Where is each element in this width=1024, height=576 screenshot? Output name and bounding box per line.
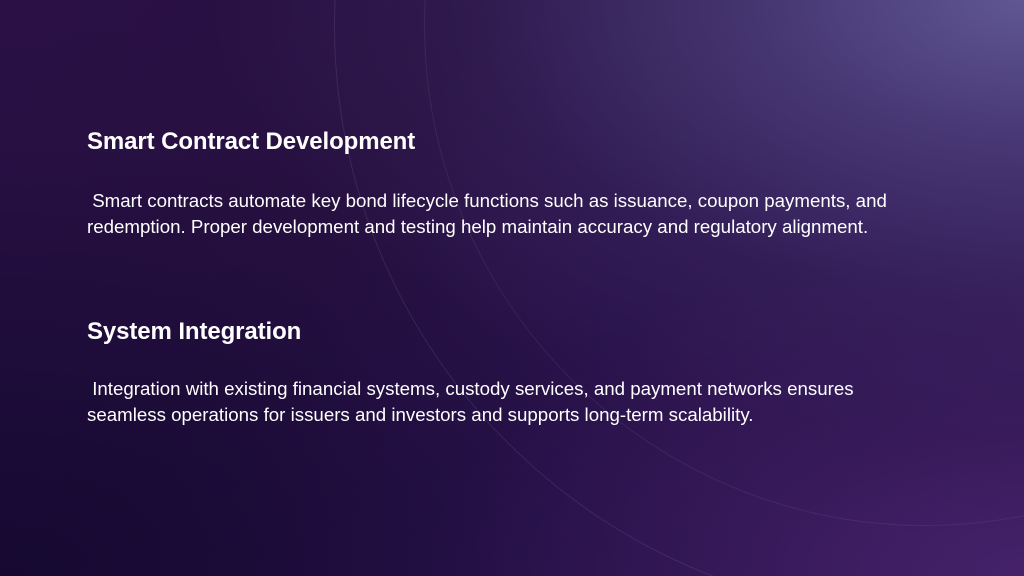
slide-content: Smart Contract Development Smart contrac… [87,0,947,576]
section-smart-contract-development: Smart Contract Development Smart contrac… [87,128,932,240]
section-heading-smart-contract-development: Smart Contract Development [87,128,932,157]
section-system-integration: System Integration Integration with exis… [87,318,932,428]
section-body-smart-contract-development: Smart contracts automate key bond lifecy… [87,157,932,240]
section-heading-system-integration: System Integration [87,318,932,347]
presentation-slide: Smart Contract Development Smart contrac… [0,0,1024,576]
section-body-system-integration: Integration with existing financial syst… [87,347,932,428]
